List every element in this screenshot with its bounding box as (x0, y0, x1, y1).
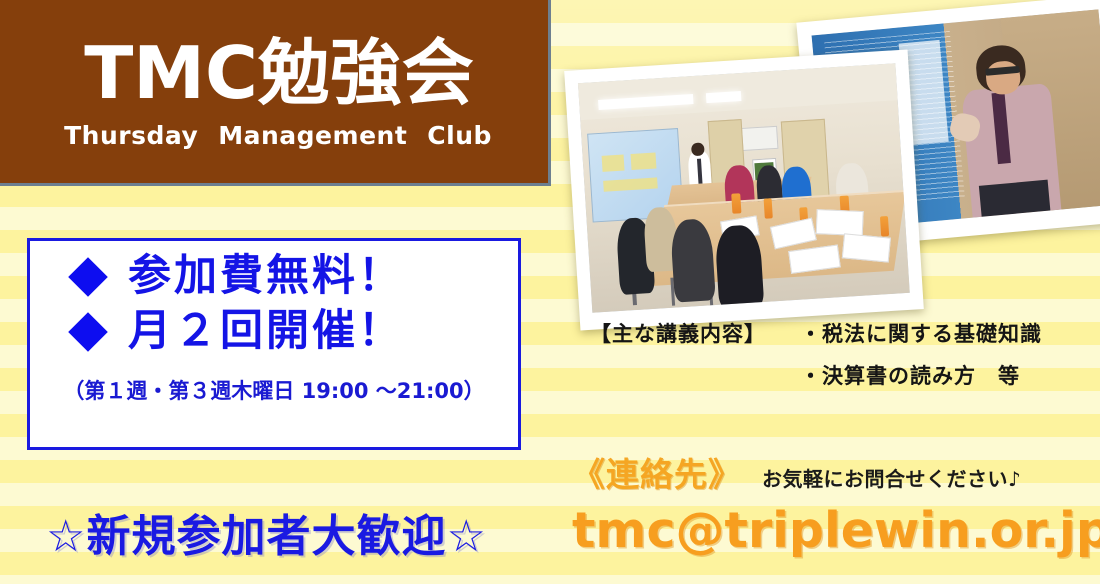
highlight-item: 参加費無料！ (30, 255, 518, 298)
scene-handout (842, 233, 891, 262)
scene-slide-block (630, 152, 656, 170)
contact-block: 《連絡先》 お気軽にお問合せください♪ tmc@triplewin.or.jp (572, 448, 1092, 559)
scene-lecturer-pants (978, 179, 1050, 216)
highlight-label: 月２回開催！ (128, 310, 404, 353)
scene-handout (816, 209, 864, 236)
highlights-box: 参加費無料！ 月２回開催！ （第１週・第３週木曜日 19:00 〜21:00） (27, 238, 521, 450)
page-title: TMC勉強会 (74, 37, 474, 110)
schedule-note: （第１週・第３週木曜日 19:00 〜21:00） (30, 375, 518, 405)
flyer-canvas: TMC勉強会 ThursdayManagementClub (0, 0, 1100, 584)
scene-drink-bottle (731, 193, 741, 214)
curriculum-items: ・税法に関する基礎知識 ・決算書の読み方 等 (800, 318, 1042, 390)
subtitle-word-thursday: Thursday (64, 121, 198, 150)
scene-slide-block (602, 154, 625, 171)
curriculum-item: ・税法に関する基礎知識 (800, 318, 1042, 348)
curriculum-heading: 【主な講義内容】 (590, 318, 800, 348)
seminar-room-scene (578, 63, 910, 313)
diamond-bullet-icon (68, 312, 108, 352)
contact-email[interactable]: tmc@triplewin.or.jp (572, 502, 1092, 559)
title-banner: TMC勉強会 ThursdayManagementClub (0, 0, 551, 186)
curriculum-block: 【主な講義内容】 ・税法に関する基礎知識 ・決算書の読み方 等 (590, 318, 1090, 390)
scene-air-conditioner (740, 126, 778, 151)
subtitle-word-management: Management (218, 121, 407, 150)
highlight-item: 月２回開催！ (30, 310, 518, 353)
subtitle-word-club: Club (427, 121, 492, 150)
scene-drink-bottle (764, 198, 774, 219)
contact-label: 《連絡先》 (572, 448, 742, 496)
contact-header-row: 《連絡先》 お気軽にお問合せください♪ (572, 448, 1092, 496)
seminar-room-photo-image (578, 63, 910, 313)
diamond-bullet-icon (68, 257, 108, 297)
title-subtitle: ThursdayManagementClub (56, 121, 492, 150)
seminar-room-photo (564, 49, 924, 330)
highlight-label: 参加費無料！ (128, 255, 404, 298)
contact-note: お気軽にお問合せください♪ (762, 463, 1021, 492)
welcome-message: ☆新規参加者大歓迎☆ (14, 500, 519, 564)
curriculum-item: ・決算書の読み方 等 (800, 360, 1042, 390)
curriculum-row: 【主な講義内容】 ・税法に関する基礎知識 ・決算書の読み方 等 (590, 318, 1090, 390)
scene-drink-bottle (879, 216, 889, 237)
